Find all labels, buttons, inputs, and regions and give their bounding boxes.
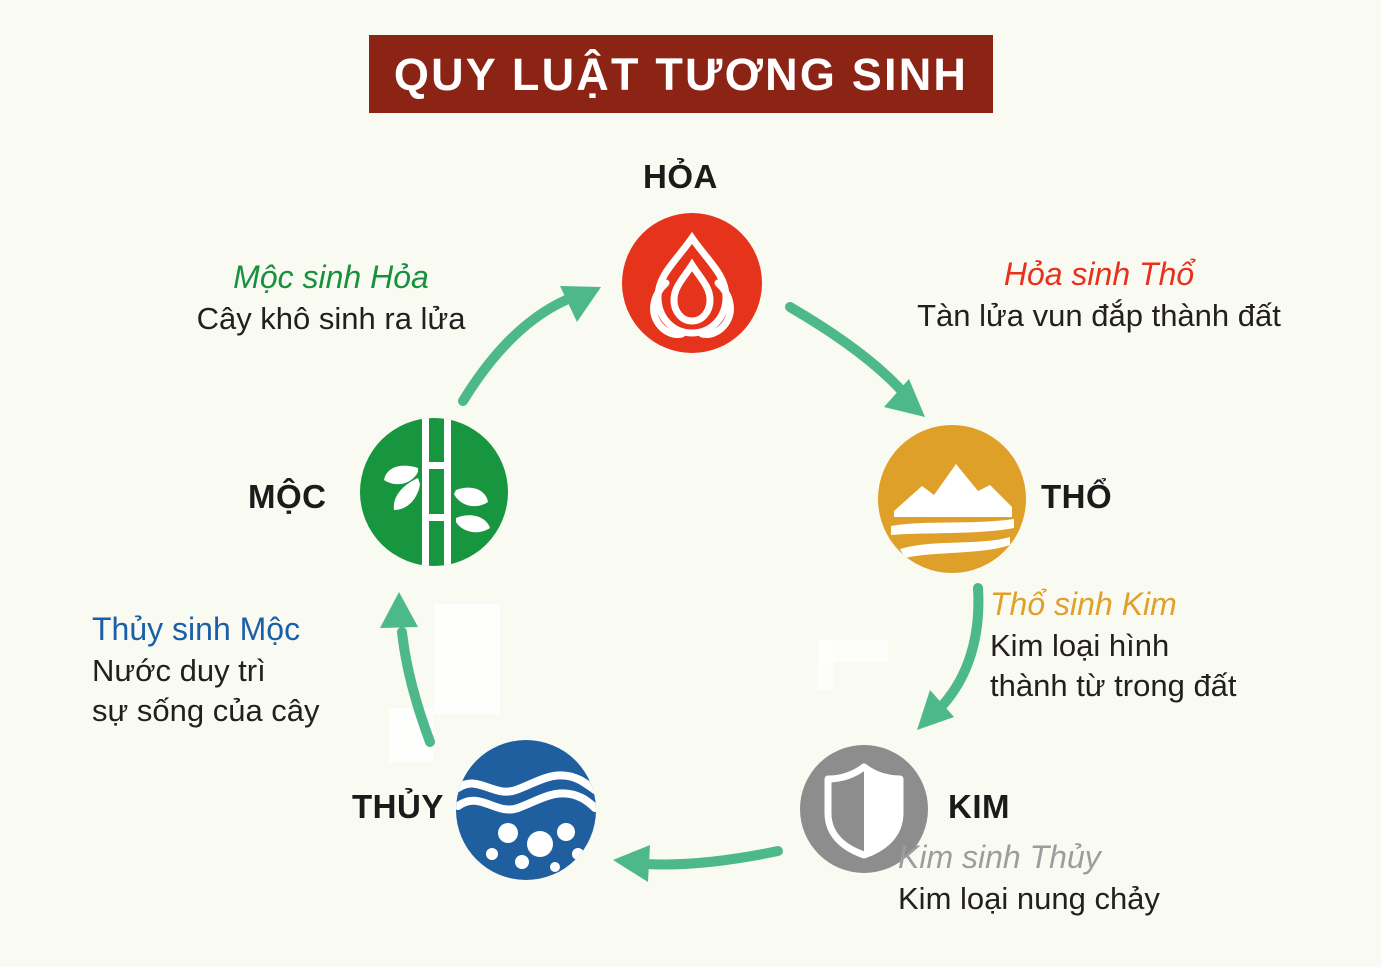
relation-moc-sinh-hoa: Mộc sinh Hỏa Cây khô sinh ra lửa bbox=[142, 258, 520, 339]
arrow-layer: .arw { fill:none; stroke:#4db98a; stroke… bbox=[0, 0, 1381, 967]
flame-icon bbox=[622, 213, 762, 353]
relation-body-line: thành từ trong đất bbox=[990, 666, 1350, 706]
element-disc-thuy bbox=[456, 740, 596, 880]
element-disc-hoa bbox=[622, 213, 762, 353]
element-label-kim: KIM bbox=[948, 790, 1010, 823]
relation-thuy-sinh-moc: Thủy sinh Mộc Nước duy trì sự sống của c… bbox=[92, 610, 432, 732]
relation-body-line: sự sống của cây bbox=[92, 691, 432, 731]
relation-title: Hỏa sinh Thổ bbox=[858, 255, 1340, 294]
arrow-tho-to-kim bbox=[917, 588, 978, 730]
relation-title: Thổ sinh Kim bbox=[990, 585, 1350, 624]
element-label-thuy: THỦY bbox=[352, 790, 444, 823]
relation-tho-sinh-kim: Thổ sinh Kim Kim loại hình thành từ tron… bbox=[990, 585, 1350, 707]
arrow-kim-to-thuy bbox=[613, 845, 778, 882]
mountain-icon bbox=[878, 425, 1026, 573]
element-label-moc: MỘC bbox=[248, 480, 327, 513]
relation-kim-sinh-thuy: Kim sinh Thủy Kim loại nung chảy bbox=[898, 838, 1318, 919]
relation-body-line: Tàn lửa vun đắp thành đất bbox=[858, 296, 1340, 336]
water-wave-icon bbox=[456, 740, 596, 880]
element-node-hoa[interactable]: HỎA bbox=[612, 160, 772, 350]
relation-body-line: Kim loại hình bbox=[990, 626, 1350, 666]
element-label-hoa: HỎA bbox=[643, 160, 718, 193]
relation-body-line: Cây khô sinh ra lửa bbox=[142, 299, 520, 339]
element-disc-moc bbox=[360, 418, 508, 566]
relation-body-line: Nước duy trì bbox=[92, 651, 432, 691]
element-label-tho: THỔ bbox=[1041, 480, 1112, 513]
element-node-thuy[interactable]: THỦY bbox=[352, 740, 612, 880]
relation-hoa-sinh-tho: Hỏa sinh Thổ Tàn lửa vun đắp thành đất bbox=[858, 255, 1340, 336]
relation-title: Thủy sinh Mộc bbox=[92, 610, 432, 649]
element-node-tho[interactable]: THỔ bbox=[878, 425, 1138, 575]
element-node-moc[interactable]: MỘC bbox=[248, 418, 508, 578]
relation-body-line: Kim loại nung chảy bbox=[898, 879, 1318, 919]
relation-title: Mộc sinh Hỏa bbox=[142, 258, 520, 297]
element-disc-tho bbox=[878, 425, 1026, 573]
bamboo-leaf-icon bbox=[360, 418, 508, 566]
relation-title: Kim sinh Thủy bbox=[898, 838, 1318, 877]
infographic-canvas: QUY LUẬT TƯƠNG SINH .arw { fill:none; st… bbox=[0, 0, 1381, 967]
